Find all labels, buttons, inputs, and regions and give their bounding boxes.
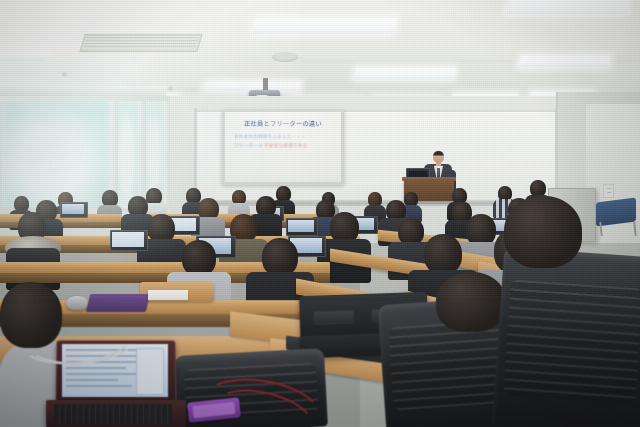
smoke-detector-icon [272, 52, 298, 62]
window-mullion [138, 98, 146, 208]
wall-outlet-icon [603, 184, 614, 198]
projection-screen: 正社員とフリーターの違い それぞれの特徴をふまえた・・・ フリーターは 不安定な… [225, 112, 341, 182]
lecture-hall-photo: 正社員とフリーターの違い それぞれの特徴をふまえた・・・ フリーターは 不安定な… [0, 0, 640, 427]
ceiling-sensor-icon [168, 86, 173, 91]
ceiling-vent [79, 34, 203, 52]
ceiling-sensor-icon [62, 72, 67, 77]
student-head-foreground [436, 272, 506, 332]
slide-title: 正社員とフリーターの違い [225, 119, 341, 128]
window-top-rail [0, 96, 170, 101]
ceiling-light-panel [507, 0, 630, 14]
ceiling-light-panel [0, 52, 47, 61]
blue-chair-legs [599, 222, 636, 236]
student-head-right [504, 196, 582, 268]
paper-sheet [148, 290, 188, 300]
window-pane [118, 100, 138, 208]
slide-body-line-1: それぞれの特徴をふまえた・・・ [234, 134, 306, 140]
window-mullion [164, 100, 170, 204]
slide-line2-prefix: フリーターは [234, 143, 263, 148]
student-puffer-right [492, 247, 640, 427]
screen-side-pane [136, 348, 164, 395]
ceiling-light-panel [519, 56, 611, 67]
window-pane [146, 102, 164, 202]
window-pane [2, 100, 110, 212]
ceiling-light-panel [354, 68, 456, 79]
presenter-head [433, 151, 444, 163]
slide-body-line-2: フリーターは 不安定な雇用である [234, 143, 307, 149]
laptop-keyboard [54, 404, 172, 424]
ceiling-light-panel [253, 18, 397, 34]
slide-line2-highlight: 不安定な雇用である [264, 143, 307, 148]
